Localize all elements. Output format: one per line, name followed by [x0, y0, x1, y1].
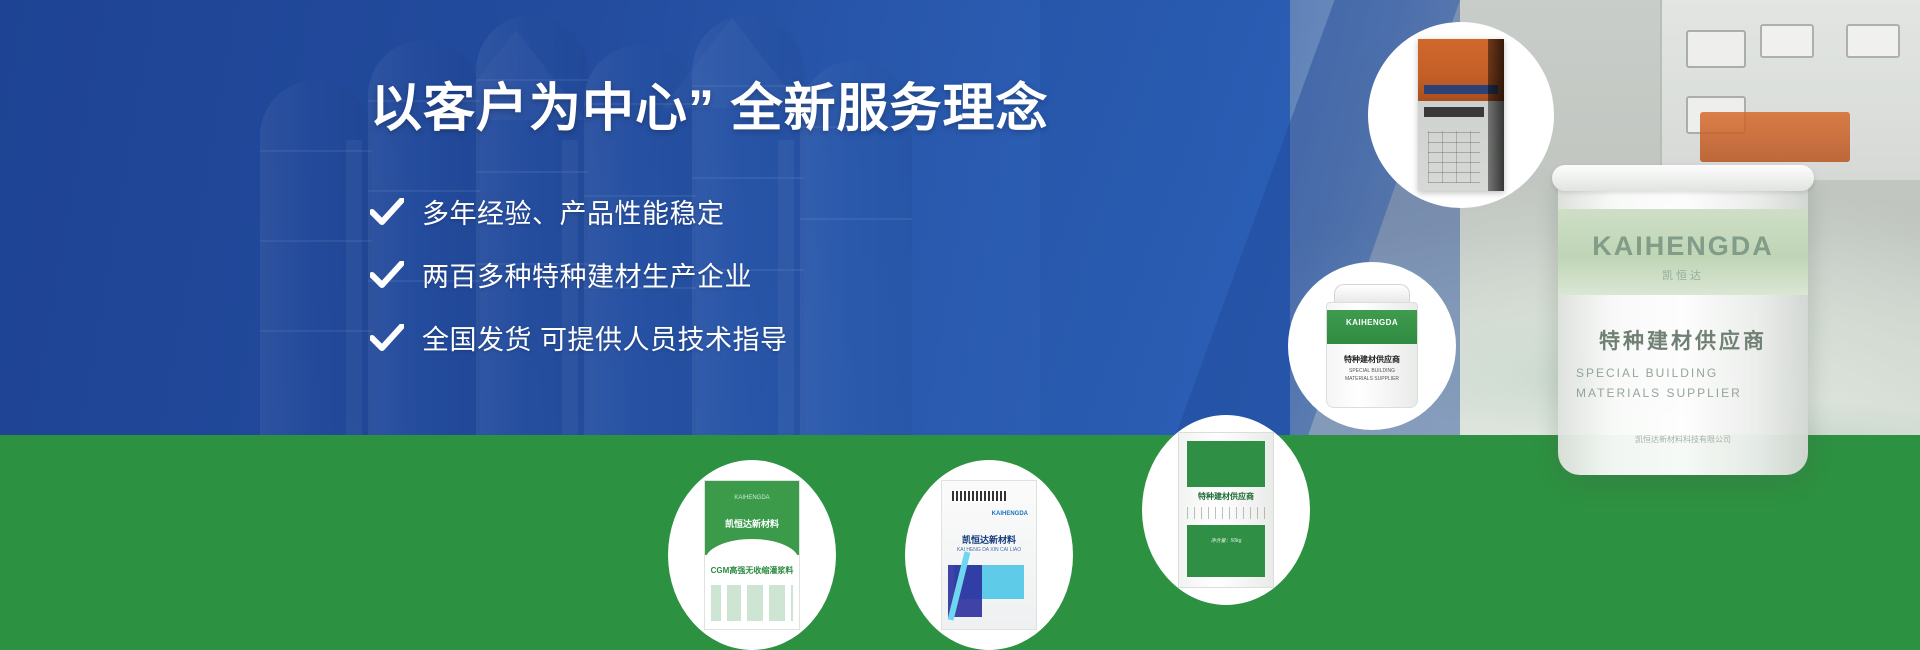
bag-white-green-top [1187, 441, 1265, 487]
bag-blue-brand-en: KAI HENG DA XIN CAI LIAO [942, 547, 1036, 553]
feature-label-2: 两百多种特种建材生产企业 [422, 255, 752, 294]
feature-label-3: 全国发货 可提供人员技术指导 [422, 318, 788, 357]
bag-green-brand: 凯恒达新材料 [705, 517, 799, 530]
feature-label-1: 多年经验、产品性能稳定 [422, 192, 725, 231]
product-circle-bag-dark [1368, 22, 1554, 208]
bag-blue-brand: 凯恒达新材料 [942, 533, 1036, 546]
bucket-green-band [1327, 310, 1417, 344]
bucket-small-title-cn: 特种建材供应商 [1326, 354, 1418, 365]
bucket-small-en-2: MATERIALS SUPPLIER [1326, 376, 1418, 384]
page-title: 以客户为中心” 全新服务理念 [370, 78, 1070, 140]
bag-white-title: 特种建材供应商 [1187, 491, 1265, 502]
bag-blue-barcode [952, 491, 1006, 501]
bucket-title-en-line2: MATERIALS SUPPLIER [1576, 383, 1742, 403]
product-bag-white: 特种建材供应商 净含量：50kg [1178, 432, 1274, 588]
orange-machine-graphic [1700, 112, 1850, 162]
product-circle-bucket-small: KAIHENGDA 特种建材供应商 SPECIAL BUILDING MATER… [1288, 262, 1456, 430]
product-circle-bag-blue: KAIHENGDA 凯恒达新材料 KAI HENG DA XIN CAI LIA… [905, 460, 1073, 650]
product-bucket-small: KAIHENGDA 特种建材供应商 SPECIAL BUILDING MATER… [1326, 284, 1418, 408]
list-item: 全国发货 可提供人员技术指导 [370, 318, 1070, 357]
bucket-small-brand: KAIHENGDA [1326, 318, 1418, 327]
feature-list: 多年经验、产品性能稳定 两百多种特种建材生产企业 全国发货 可提供人员技术指导 [370, 192, 1070, 357]
product-bucket-large: KAIHENGDA 凯恒达 特种建材供应商 SPECIAL BUILDING M… [1558, 175, 1808, 475]
bag-side-shadow [1488, 39, 1504, 191]
bucket-small-title-en: SPECIAL BUILDING MATERIALS SUPPLIER [1326, 368, 1418, 383]
control-panel-graphic-1 [1760, 24, 1814, 58]
product-circle-bag-white: 特种建材供应商 净含量：50kg [1142, 415, 1310, 605]
promo-banner: KAIHENGDA 凯恒达 特种建材供应商 SPECIAL BUILDING M… [0, 0, 1920, 650]
bag-spec-table [1428, 131, 1480, 183]
banner-content: 以客户为中心” 全新服务理念 多年经验、产品性能稳定 两百多种特种建材生产企业 … [370, 78, 1070, 381]
bag-black-strip [1424, 107, 1484, 117]
bucket-brand-en: KAIHENGDA [1558, 231, 1808, 262]
bag-green-logo: KAIHENGDA [705, 495, 799, 501]
list-item: 多年经验、产品性能稳定 [370, 192, 1070, 231]
list-item: 两百多种特种建材生产企业 [370, 255, 1070, 294]
product-bag-green: KAIHENGDA 凯恒达新材料 CGM高强无收缩灌浆料 [704, 480, 800, 630]
bag-white-green-bottom: 净含量：50kg [1187, 525, 1265, 577]
bucket-rim [1552, 165, 1814, 191]
control-panel-graphic-2 [1846, 24, 1900, 58]
bucket-title-en-line1: SPECIAL BUILDING [1576, 363, 1742, 383]
product-bag-dark [1418, 39, 1504, 191]
check-icon [370, 260, 404, 290]
bucket-brand-cn: 凯恒达 [1558, 267, 1808, 283]
product-bag-blue: KAIHENGDA 凯恒达新材料 KAI HENG DA XIN CAI LIA… [941, 480, 1037, 630]
bag-green-product: CGM高强无收缩灌浆料 [705, 565, 799, 576]
bag-green-skyline-graphic [711, 585, 793, 621]
bucket-small-en-1: SPECIAL BUILDING [1326, 368, 1418, 376]
bag-white-spec-lines [1187, 507, 1265, 519]
check-icon [370, 323, 404, 353]
bucket-title-cn: 特种建材供应商 [1558, 325, 1808, 355]
product-circle-bag-green: KAIHENGDA 凯恒达新材料 CGM高强无收缩灌浆料 [668, 460, 836, 650]
bag-blue-logo: KAIHENGDA [992, 511, 1028, 517]
bucket-lid [1334, 284, 1410, 304]
bucket-title-en: SPECIAL BUILDING MATERIALS SUPPLIER [1576, 363, 1742, 404]
bag-white-weight: 净含量：50kg [1187, 537, 1265, 544]
check-icon [370, 197, 404, 227]
bucket-company-name: 凯恒达新材料科技有限公司 [1558, 434, 1808, 445]
bag-brand-strip [1424, 85, 1498, 94]
